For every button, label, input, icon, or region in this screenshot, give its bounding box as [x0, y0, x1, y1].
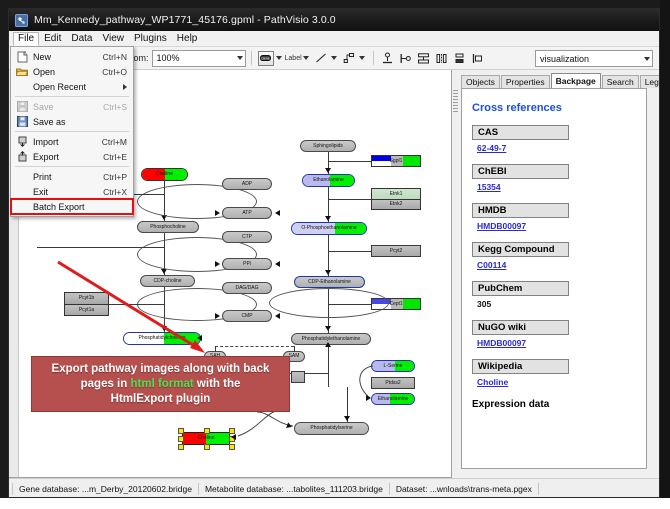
xref-source-label: Wikipedia — [472, 359, 569, 374]
arrow-left-icon — [275, 210, 280, 216]
selection-handle[interactable] — [204, 428, 210, 434]
menu-item-label: Batch Export — [33, 202, 127, 212]
node-l-serine[interactable]: L-Serine — [371, 360, 415, 372]
menu-item-label: Open — [33, 67, 102, 77]
arrow-down-icon — [161, 269, 167, 274]
datanode-icon[interactable]: Gene — [258, 51, 274, 66]
arrow-down-icon — [325, 326, 331, 331]
menu-item-batch-export[interactable]: Batch Export — [11, 199, 133, 214]
frame-bottom — [0, 498, 670, 509]
tab-properties[interactable]: Properties — [501, 75, 550, 88]
zoom-value: 100% — [157, 53, 180, 63]
status-bar: Gene database: ...m_Derby_20120602.bridg… — [9, 478, 659, 498]
xref-source-label: HMDB — [472, 203, 569, 218]
expression-data-heading: Expression data — [472, 399, 646, 410]
node-phosphatidylethanolamine[interactable]: Phosphatidylethanolamine — [291, 333, 371, 345]
menu-item-accel: Ctrl+S — [103, 102, 133, 112]
node-label: Phosphatidylethanolamine — [302, 337, 361, 342]
node-phosphatidylcholines[interactable]: Phosphatidylcholines — [123, 332, 201, 345]
edge-etnk — [328, 199, 371, 200]
backpage-content: Cross references CAS 62-49-7 ChEBI 15354… — [461, 88, 647, 469]
line-icon[interactable] — [313, 50, 329, 66]
xref-wikipedia: Wikipedia Choline — [472, 359, 646, 387]
node-label: PPi — [243, 262, 251, 267]
visualization-combo[interactable]: visualization — [535, 50, 653, 67]
menu-item-label: Save as — [33, 117, 127, 127]
node-label: Phosphocholine — [150, 225, 186, 230]
submenu-arrow-icon — [123, 84, 127, 90]
menu-item-label: Exit — [33, 187, 103, 197]
selection-handle[interactable] — [204, 444, 210, 450]
file-menu-popup[interactable]: New Ctrl+N Open Ctrl+O Open Recent — [10, 46, 134, 217]
menu-item-accel: Ctrl+N — [103, 52, 133, 62]
node-atp[interactable]: ATP — [222, 207, 272, 219]
edge-sam-stub — [294, 346, 295, 352]
new-file-icon — [11, 51, 33, 63]
node-label: Choline — [198, 436, 215, 441]
menu-separator — [15, 166, 129, 167]
callout-box: Export pathway images along with back pa… — [31, 356, 290, 412]
node-label: CTP — [242, 235, 252, 240]
node-phosphocholine[interactable]: Phosphocholine — [137, 221, 199, 233]
arrow-right-icon — [215, 261, 220, 267]
visualization-value: visualization — [540, 54, 589, 64]
label-button-text[interactable]: Label — [285, 55, 302, 62]
node-sphingolipids[interactable]: Sphingolipids — [300, 140, 356, 152]
xref-cas: CAS 62-49-7 — [472, 125, 646, 153]
status-gene-database: Gene database: ...m_Derby_20120602.bridg… — [12, 483, 199, 495]
order-icon[interactable] — [470, 50, 486, 66]
edge-chpt-left — [37, 247, 164, 248]
menu-item-accel: Ctrl+X — [103, 187, 133, 197]
pathvisio-window: Mm_Kennedy_pathway_WP1771_45176.gpml - P… — [8, 8, 660, 498]
curve-choline-in — [232, 410, 278, 442]
align-top-icon[interactable] — [380, 50, 396, 66]
node-label: CMP — [241, 314, 252, 319]
node-label: Phosphatidylserine — [310, 426, 352, 431]
xref-value-link[interactable]: 15354 — [477, 182, 646, 192]
node-choline-top[interactable]: Choline — [141, 168, 188, 181]
folder-open-icon — [11, 67, 33, 77]
stack-icon[interactable] — [452, 50, 468, 66]
toolbar-separator — [251, 51, 252, 65]
gene-label: Sgpl1 — [390, 159, 403, 164]
xref-source-label: PubChem — [472, 281, 569, 296]
menu-item-accel: Ctrl+M — [102, 137, 133, 147]
interaction-chevron-down-icon[interactable] — [359, 56, 365, 60]
node-label: DAG/DAG — [235, 286, 258, 291]
panel-resize-grip[interactable] — [453, 90, 458, 116]
visualization-chevron-down-icon — [644, 57, 650, 61]
edge-pcyt1-to-reaction — [109, 304, 164, 305]
arrow-right-icon — [366, 395, 371, 401]
menu-item-label: Print — [33, 172, 103, 182]
datanode-chevron-down-icon[interactable] — [276, 56, 282, 60]
menu-item-save-as[interactable]: Save as — [11, 114, 133, 129]
menu-edit[interactable]: Edit — [39, 32, 66, 46]
status-metabolite-database: Metabolite database: ...tabolites_111203… — [199, 483, 390, 495]
xref-value-link[interactable]: HMDB00097 — [477, 338, 646, 348]
xref-nugo-wiki: NuGO wiki HMDB00097 — [472, 320, 646, 348]
toolbar-separator-2 — [373, 51, 374, 65]
menu-separator — [15, 131, 129, 132]
toolbar-right-group: visualization — [535, 50, 653, 67]
screenshot-root: Mm_Kennedy_pathway_WP1771_45176.gpml - P… — [0, 0, 670, 509]
menu-item-label: New — [33, 52, 103, 62]
tab-legend[interactable]: Legend — [640, 75, 660, 88]
menu-item-accel: Ctrl+E — [103, 152, 133, 162]
align-vertical-icon[interactable] — [416, 50, 432, 66]
gene-label: Cept1 — [389, 302, 402, 307]
gene-stack-pcyt1[interactable]: Pcyt1b Pcyt1a — [64, 292, 109, 316]
menu-item-label: Import — [33, 137, 102, 147]
node-label: SAM — [289, 354, 300, 359]
node-label: Sphingolipids — [313, 144, 343, 149]
menu-item-open[interactable]: Open Ctrl+O — [11, 64, 133, 79]
menu-item-accel: Ctrl+P — [103, 172, 133, 182]
arrow-right-icon — [215, 210, 220, 216]
arrow-down-icon — [325, 270, 331, 275]
cross-references-heading: Cross references — [472, 102, 646, 114]
node-o-phosphoethanolamine[interactable]: O-Phosphoethanolamine — [291, 222, 367, 235]
gene-sgpl1[interactable]: Sgpl1 — [371, 155, 421, 167]
menu-bar: File Edit Data View Plugins Help — [9, 31, 659, 47]
menu-item-open-recent[interactable]: Open Recent — [11, 79, 133, 94]
node-label: ADP — [242, 182, 252, 187]
xref-source-label: CAS — [472, 125, 569, 140]
edge-pemt-dashed — [215, 346, 294, 347]
arrow-left-icon — [275, 313, 280, 319]
xref-source-label: NuGO wiki — [472, 320, 569, 335]
callout-highlight: html format — [130, 378, 193, 390]
node-label: CDP-choline — [153, 279, 181, 284]
interaction-icon[interactable] — [341, 50, 357, 66]
node-dag[interactable]: DAG/DAG — [222, 282, 272, 294]
node-cdp-choline[interactable]: CDP-choline — [140, 275, 195, 287]
callout-line-2: pages in html format with the — [81, 377, 241, 392]
gene-etnk1[interactable]: Etnk1 — [372, 189, 420, 200]
curve-serine-exchange — [337, 358, 377, 406]
menu-item-exit[interactable]: Exit Ctrl+X — [11, 184, 133, 199]
menu-item-new[interactable]: New Ctrl+N — [11, 49, 133, 64]
callout-line-1: Export pathway images along with back — [52, 362, 270, 377]
menu-separator — [15, 96, 129, 97]
save-as-icon — [11, 116, 33, 127]
pathway-element-stub[interactable] — [291, 371, 305, 383]
arrow-down-icon — [161, 326, 167, 331]
window-title: Mm_Kennedy_pathway_WP1771_45176.gpml - P… — [34, 14, 336, 26]
frame-top — [0, 0, 670, 8]
arrow-left-icon — [231, 434, 236, 440]
pathvisio-icon — [15, 14, 28, 27]
arrow-down-icon — [344, 416, 350, 421]
svg-text:Gene: Gene — [261, 56, 269, 60]
tab-backpage[interactable]: Backpage — [551, 73, 601, 88]
frame-left — [0, 0, 8, 509]
menu-file[interactable]: File — [13, 32, 39, 46]
node-label: Ethanolamine — [313, 178, 344, 183]
arrow-down-icon — [325, 168, 331, 173]
xref-value-link[interactable]: 62-49-7 — [477, 143, 646, 153]
label-chevron-down-icon[interactable] — [303, 56, 309, 60]
menu-item-label: Save — [33, 102, 103, 112]
gene-ptdss2[interactable]: Ptdss2 — [371, 377, 415, 389]
node-label: Choline — [156, 172, 173, 177]
node-label: Ethanolamine — [378, 397, 409, 402]
callout-line-2a: pages in — [81, 378, 131, 390]
selection-handle[interactable] — [178, 444, 184, 450]
gene-pcyt1b[interactable]: Pcyt1b — [65, 293, 108, 305]
node-ctp[interactable]: CTP — [222, 231, 272, 243]
gene-pcyt1a[interactable]: Pcyt1a — [65, 305, 108, 316]
arrow-right-icon — [215, 313, 220, 319]
tab-search[interactable]: Search — [602, 75, 639, 88]
distribute-icon[interactable] — [434, 50, 450, 66]
xref-value-link[interactable]: HMDB00097 — [477, 221, 646, 231]
xref-kegg-compound: Kegg Compound C00114 — [472, 242, 646, 270]
title-bar: Mm_Kennedy_pathway_WP1771_45176.gpml - P… — [9, 9, 659, 31]
node-label: O-Phosphoethanolamine — [301, 226, 356, 231]
curve-cdpetn — [269, 288, 389, 318]
save-icon — [11, 101, 33, 112]
zoom-combo[interactable]: 100% — [152, 50, 246, 67]
arrow-left-icon — [275, 261, 280, 267]
menu-view[interactable]: View — [97, 32, 129, 46]
menu-item-save: Save Ctrl+S — [11, 99, 133, 114]
side-panel: Objects Properties Backpage Search Legen… — [452, 70, 659, 478]
align-left-icon[interactable] — [398, 50, 414, 66]
menu-item-export[interactable]: Export Ctrl+E — [11, 149, 133, 164]
node-adp[interactable]: ADP — [222, 178, 272, 190]
node-label: ATP — [242, 211, 251, 216]
arrow-down-icon — [325, 216, 331, 221]
side-panel-tabs: Objects Properties Backpage Search Legen… — [461, 74, 659, 88]
edge-pe-up — [328, 345, 329, 387]
frame-right — [660, 0, 670, 498]
callout-line-2b: with the — [194, 378, 241, 390]
xref-source-label: Kegg Compound — [472, 242, 569, 257]
menu-help[interactable]: Help — [172, 32, 203, 46]
edge-sgpl1 — [328, 161, 371, 162]
menu-item-accel: Ctrl+O — [102, 67, 133, 77]
menu-item-print[interactable]: Print Ctrl+P — [11, 169, 133, 184]
menu-item-import[interactable]: Import Ctrl+M — [11, 134, 133, 149]
node-ethanolamine-top[interactable]: Ethanolamine — [302, 174, 355, 187]
xref-hmdb: HMDB HMDB00097 — [472, 203, 646, 231]
tab-objects[interactable]: Objects — [461, 75, 500, 88]
xref-value-link[interactable]: C00114 — [477, 260, 646, 270]
arrow-up-icon — [325, 342, 331, 347]
gene-pcyt2[interactable]: Pcyt2 — [371, 245, 421, 257]
chevron-down-icon — [237, 56, 243, 60]
callout-line-3: HtmlExport plugin — [111, 392, 211, 407]
import-icon — [11, 136, 33, 147]
xref-pubchem: PubChem 305 — [472, 281, 646, 309]
selection-handle[interactable] — [229, 444, 235, 450]
arrow-left-icon — [197, 335, 202, 341]
selection-handle[interactable] — [178, 436, 184, 442]
xref-chebi: ChEBI 15354 — [472, 164, 646, 192]
node-label: L-Serine — [384, 364, 403, 369]
menu-item-label: Open Recent — [33, 82, 123, 92]
line-chevron-down-icon[interactable] — [331, 56, 337, 60]
gene-label: Pcyt2 — [390, 249, 403, 254]
node-cdp-ethanolamine[interactable]: CDP-Ethanolamine — [294, 276, 365, 288]
node-label: Phosphatidylcholines — [139, 336, 186, 341]
edge-pcyt2 — [328, 251, 371, 252]
gene-etnk2[interactable]: Etnk2 — [372, 200, 420, 210]
selection-handle[interactable] — [178, 428, 184, 434]
xref-value-link[interactable]: Choline — [477, 377, 646, 387]
menu-data[interactable]: Data — [66, 32, 97, 46]
gene-label: Ptdss2 — [385, 381, 400, 386]
xref-source-label: ChEBI — [472, 164, 569, 179]
node-ppi[interactable]: PPi — [222, 258, 272, 270]
node-label: CDP-Ethanolamine — [308, 280, 351, 285]
edge-sah-stub — [215, 346, 216, 352]
menu-item-label: Export — [33, 152, 103, 162]
status-dataset: Dataset: ...wnloads\trans-meta.pgex — [390, 483, 539, 495]
gene-stack-etnk[interactable]: Etnk1 Etnk2 — [371, 188, 421, 210]
menu-plugins[interactable]: Plugins — [129, 32, 172, 46]
xref-value-text: 305 — [477, 299, 646, 309]
node-ethanolamine-bottom[interactable]: Ethanolamine — [371, 393, 415, 405]
export-icon — [11, 151, 33, 162]
node-cmp[interactable]: CMP — [222, 310, 272, 322]
